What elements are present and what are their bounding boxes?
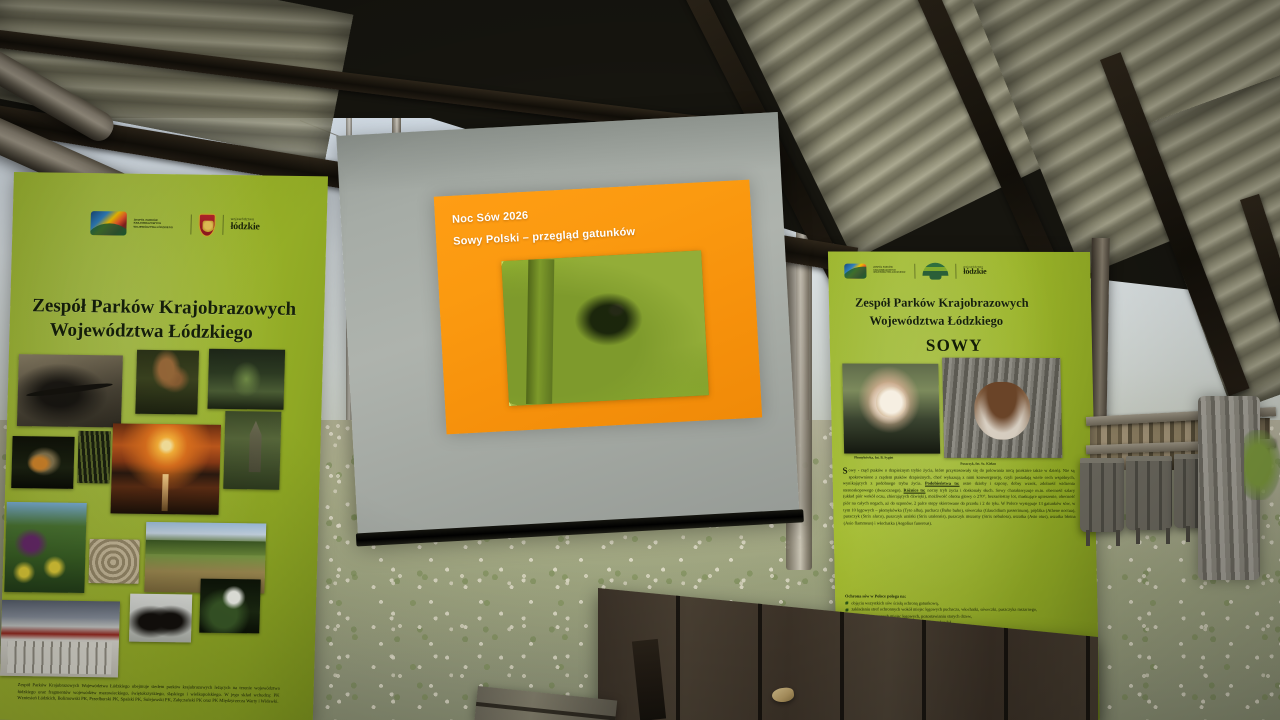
zpk-logo-caption: ZESPÓŁ PARKÓW KRAJOBRAZOWYCH WOJEWÓDZTWA… <box>873 267 907 275</box>
banner-right-title-line-2: Województwa Łódzkiego <box>869 314 1003 329</box>
banner-photo-mushrooms <box>135 350 199 415</box>
banner-zpk-overview: ZESPÓŁ PARKÓW KRAJOBRAZOWYCH WOJEWÓDZTWA… <box>0 172 328 720</box>
lodzkie-wordmark: województwo łódzkie <box>230 218 260 232</box>
owl-term-similarities: Podobieństwa to: <box>925 481 960 486</box>
crate-leg <box>1116 530 1120 546</box>
logo-divider <box>190 214 192 234</box>
zpk-logo-caption: ZESPÓŁ PARKÓW KRAJOBRAZOWYCH WOJEWÓDZTWA… <box>133 219 183 229</box>
banner-photo-water-lily <box>199 579 261 634</box>
lodzkie-big-text: łódzkie <box>230 222 259 232</box>
banner-right-logo-row: ZESPÓŁ PARKÓW KRAJOBRAZOWYCH WOJEWÓDZTWA… <box>844 262 986 280</box>
banner-photo-robin <box>11 436 74 489</box>
crate-leg <box>1166 528 1170 544</box>
lodz-coat-of-arms-icon <box>198 213 216 236</box>
slide-title-line-2: Sowy Polski – przegląd gatunków <box>453 226 636 248</box>
lodzkie-big-text: łódzkie <box>963 268 986 276</box>
banner-right-title-line-1: Zespół Parków Krajobrazowych <box>855 296 1029 312</box>
banner-photo-fossil <box>89 539 140 584</box>
banner-photo-palace <box>0 600 120 678</box>
wooden-planter-crate <box>1080 458 1124 532</box>
banner-photo-snake <box>17 354 123 427</box>
banner-photo-forest <box>207 349 285 410</box>
logo-divider <box>914 263 915 278</box>
slide-title-line-1: Noc Sów 2026 <box>452 210 529 226</box>
banner-photo-church <box>223 411 281 490</box>
banner-left-title-line-2: Województwa Łódzkiego <box>49 319 253 345</box>
zpk-logo-icon <box>844 263 866 278</box>
shelter-scene: Noc Sów 2026 Sowy Polski – przegląd gatu… <box>0 0 1280 720</box>
lodzkie-wordmark: województwo łódzkie <box>963 265 986 276</box>
slide-owl-photo <box>501 250 709 406</box>
screen-surface: Noc Sów 2026 Sowy Polski – przegląd gatu… <box>336 112 799 539</box>
owl-photo-tawny-owl <box>942 358 1062 458</box>
logo-divider <box>222 215 224 235</box>
banner-left-footer-text: Zespół Parków Krajobrazowych Województwa… <box>17 682 280 706</box>
banner-photo-bison <box>129 594 192 643</box>
presentation-slide: Noc Sów 2026 Sowy Polski – przegląd gatu… <box>434 180 762 435</box>
crate-leg <box>1186 526 1190 542</box>
banner-photo-flowers <box>4 502 87 593</box>
logo-divider <box>955 263 956 278</box>
owl-caption-right: Puszczyk, fot. Sz. Kielan <box>960 462 996 466</box>
banner-left-title-line-1: Zespół Parków Krajobrazowych <box>32 294 297 321</box>
banner-photo-sunset <box>111 423 222 514</box>
pull-down-projection-screen[interactable]: Noc Sów 2026 Sowy Polski – przegląd gatu… <box>336 112 799 539</box>
owl-body-paragraph: Sowy - rząd ptaków o drapieżnym trybie ż… <box>842 468 1075 528</box>
crate-leg <box>1136 528 1140 544</box>
owl-caption-left: Płomykówka, fot. B. Sygiet <box>854 456 893 460</box>
owl-term-differences: Różnice to: <box>903 487 925 492</box>
owl-photo-barn-owl <box>842 364 940 454</box>
banner-right-heading: SOWY <box>926 336 983 356</box>
wooden-planter-crate <box>1126 456 1172 530</box>
banner-left-logo-row: ZESPÓŁ PARKÓW KRAJOBRAZOWYCH WOJEWÓDZTWA… <box>90 211 260 237</box>
zpk-logo-icon <box>90 211 127 235</box>
roadside-vegetation <box>1244 430 1280 500</box>
banner-photo-reeds <box>77 431 110 483</box>
crate-leg <box>1086 530 1090 546</box>
park-arc-logo-icon <box>922 262 948 280</box>
